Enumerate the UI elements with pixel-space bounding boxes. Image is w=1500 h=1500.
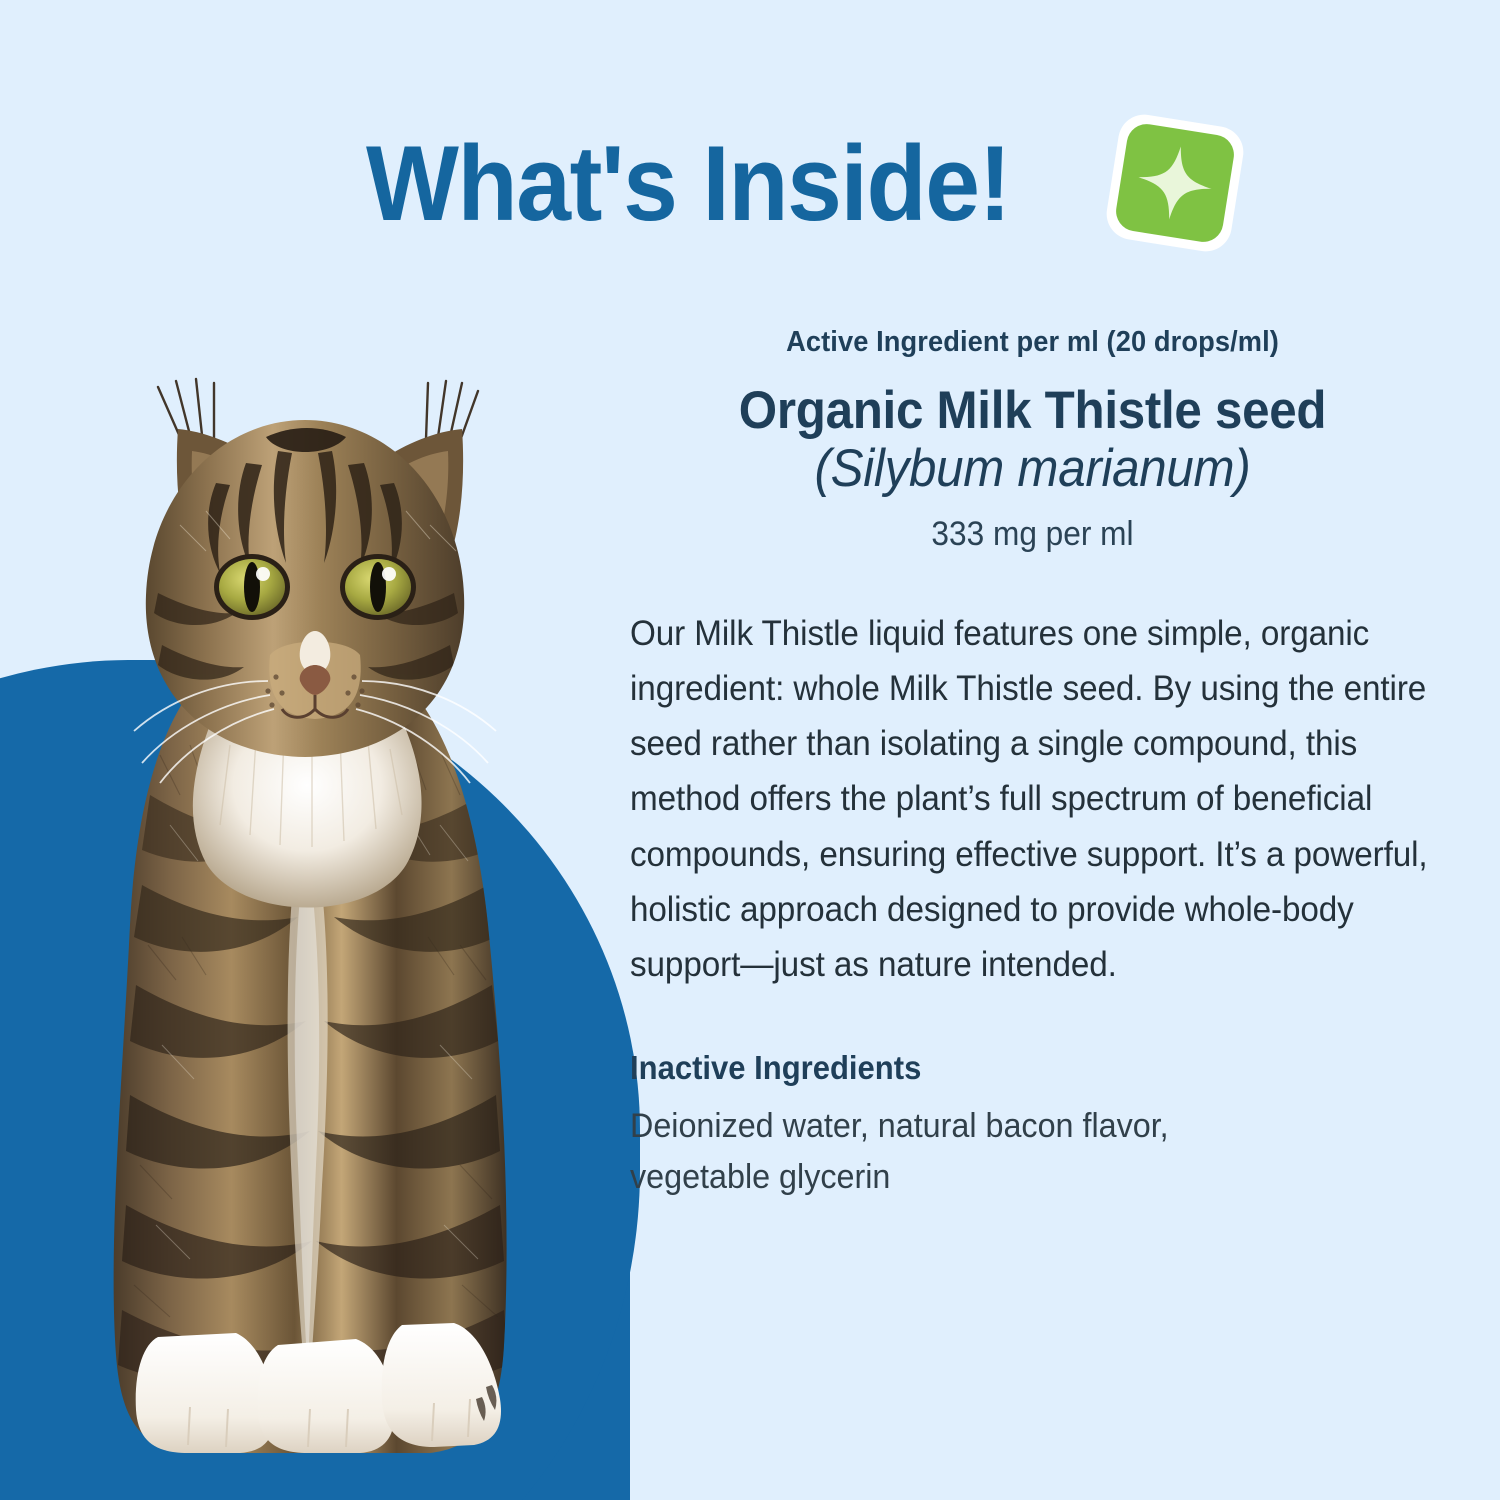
header-row: What's Inside! [366,108,1250,258]
sparkle-badge-icon [1100,108,1250,258]
cat-photo [30,325,590,1460]
product-description: Our Milk Thistle liquid features one sim… [630,606,1433,993]
active-ingredient-dosage: 333 mg per ml [658,515,1407,554]
product-infographic: What's Inside! Active Ingredient per ml … [0,0,1500,1500]
active-ingredient-latin-name: (Silybum marianum) [658,439,1407,498]
active-ingredient-label: Active Ingredient per ml (20 drops/ml) [654,326,1411,359]
inactive-ingredients-list: Deionized water, natural bacon flavor, v… [630,1101,1314,1204]
page-title: What's Inside! [366,130,1010,237]
active-ingredient-name: Organic Milk Thistle seed [658,383,1407,439]
ingredient-panel: Active Ingredient per ml (20 drops/ml) O… [630,326,1435,1204]
cat-paws [136,1323,501,1453]
inactive-ingredients-heading: Inactive Ingredients [630,1049,1387,1087]
